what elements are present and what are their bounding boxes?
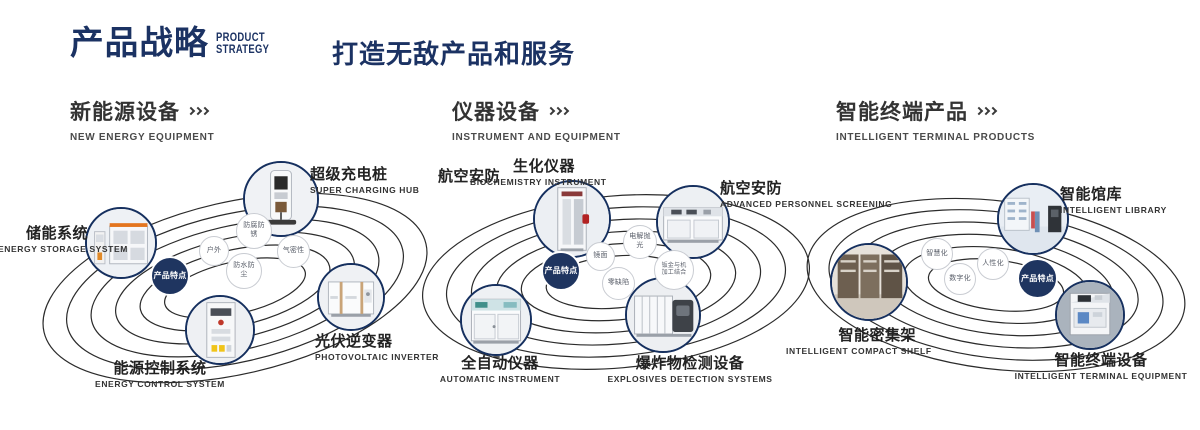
product-label-biochemistry-instrument: 生化仪器 BIOCHEMISTRY INSTRUMENT xyxy=(430,158,575,188)
feature-bubble-main[interactable]: 产品特点 xyxy=(152,258,188,294)
feature-bubble-zero-defect[interactable]: 零缺陷 xyxy=(602,267,635,300)
section-header-instrument: 仪器设备 INSTRUMENT AND EQUIPMENT xyxy=(452,96,621,143)
pv-inverter-photo xyxy=(319,265,383,329)
section-title-en: NEW ENERGY EQUIPMENT xyxy=(70,132,214,143)
section-title-cn: 智能终端产品 xyxy=(836,96,968,126)
cluster-intelligent-terminal: 智能馆库 INTELLIGENT LIBRARY 智能密集架 INTELLIGE… xyxy=(806,170,1200,430)
product-label-energy-storage: 储能系统 ENERGY STORAGE SYSTEM xyxy=(0,225,88,255)
product-label-automatic-instrument: 全自动仪器 AUTOMATIC INSTRUMENT xyxy=(410,355,590,385)
feature-bubble-anticorrosion[interactable]: 防腐防锈 xyxy=(236,213,272,249)
feature-bubble-waterproof[interactable]: 防水防尘 xyxy=(226,253,262,289)
feature-bubble-smart[interactable]: 智慧化 xyxy=(921,238,953,270)
product-circle-pv-inverter[interactable] xyxy=(317,263,385,331)
intelligent-library-photo xyxy=(999,185,1067,253)
product-circle-explosives-detection[interactable] xyxy=(625,277,701,353)
product-circle-intelligent-library[interactable] xyxy=(997,183,1069,255)
cluster-new-energy: 储能系统 ENERGY STORAGE SYSTEM 超级充电桩 SUPER C… xyxy=(40,170,440,430)
section-title-en: INSTRUMENT AND EQUIPMENT xyxy=(452,132,621,143)
chevron-right-icon xyxy=(548,108,568,114)
page-title-english: PRODUCT STRATEGY xyxy=(216,33,269,57)
product-label-explosives-detection: 爆炸物检测设备 EXPLOSIVES DETECTION SYSTEMS xyxy=(590,355,790,385)
product-circle-terminal-equipment[interactable] xyxy=(1055,280,1125,350)
section-title-en: INTELLIGENT TERMINAL PRODUCTS xyxy=(836,132,1035,143)
energy-storage-cabinet-photo xyxy=(87,209,155,277)
energy-control-cabinet-photo xyxy=(187,297,253,363)
product-circle-personnel-screening[interactable] xyxy=(656,185,730,259)
explosives-detector-photo xyxy=(627,279,699,351)
compact-shelf-photo xyxy=(832,245,906,319)
section-header-intelligent-terminal: 智能终端产品 INTELLIGENT TERMINAL PRODUCTS xyxy=(836,96,1035,143)
automatic-instrument-photo xyxy=(462,286,530,354)
section-title-cn: 新能源设备 xyxy=(70,96,180,126)
cluster-instrument: 航空安防 生化仪器 BIOCHEMISTRY INSTRUMENT 航空安防 A… xyxy=(420,170,820,430)
product-label-energy-control: 能源控制系统 ENERGY CONTROL SYSTEM xyxy=(60,360,260,390)
product-strategy-infographic: 产品战略 PRODUCT STRATEGY 打造无敌产品和服务 新能源设备 NE… xyxy=(0,0,1200,422)
chevron-right-icon xyxy=(976,108,996,114)
feature-bubble-electropolishing[interactable]: 电解抛光 xyxy=(623,225,657,259)
page-title: 产品战略 xyxy=(70,26,209,59)
feature-bubble-main[interactable]: 产品特点 xyxy=(1019,260,1056,297)
product-circle-energy-storage[interactable] xyxy=(85,207,157,279)
product-label-intelligent-library: 智能馆库 INTELLIGENT LIBRARY xyxy=(1060,186,1185,216)
feature-bubble-mirror[interactable]: 镜面 xyxy=(586,242,615,271)
section-header-new-energy: 新能源设备 NEW ENERGY EQUIPMENT xyxy=(70,96,214,143)
product-label-compact-shelf: 智能密集架 INTELLIGENT COMPACT SHELF xyxy=(726,327,916,357)
page-title-english-line2: STRATEGY xyxy=(216,45,269,57)
feature-bubble-humanized[interactable]: 人性化 xyxy=(977,248,1009,280)
terminal-kiosk-photo xyxy=(1057,282,1123,348)
page-subtitle: 打造无敌产品和服务 xyxy=(332,34,575,71)
personnel-screening-photo xyxy=(658,187,728,257)
product-circle-compact-shelf[interactable] xyxy=(830,243,908,321)
product-circle-energy-control[interactable] xyxy=(185,295,255,365)
product-circle-automatic-instrument[interactable] xyxy=(460,284,532,356)
feature-bubble-digital[interactable]: 数字化 xyxy=(944,263,976,295)
feature-bubble-airtight[interactable]: 气密性 xyxy=(277,235,310,268)
product-label-terminal-equipment: 智能终端设备 INTELLIGENT TERMINAL EQUIPMENT xyxy=(1001,352,1200,382)
section-title-cn: 仪器设备 xyxy=(452,96,540,126)
feature-bubble-main[interactable]: 产品特点 xyxy=(543,253,579,289)
chevron-right-icon xyxy=(188,108,208,114)
feature-bubble-outdoor[interactable]: 户外 xyxy=(199,236,229,266)
page-title-block: 产品战略 PRODUCT STRATEGY xyxy=(70,26,281,59)
feature-bubble-sheetmetal-machining[interactable]: 钣金与机加工结合 xyxy=(654,250,694,290)
